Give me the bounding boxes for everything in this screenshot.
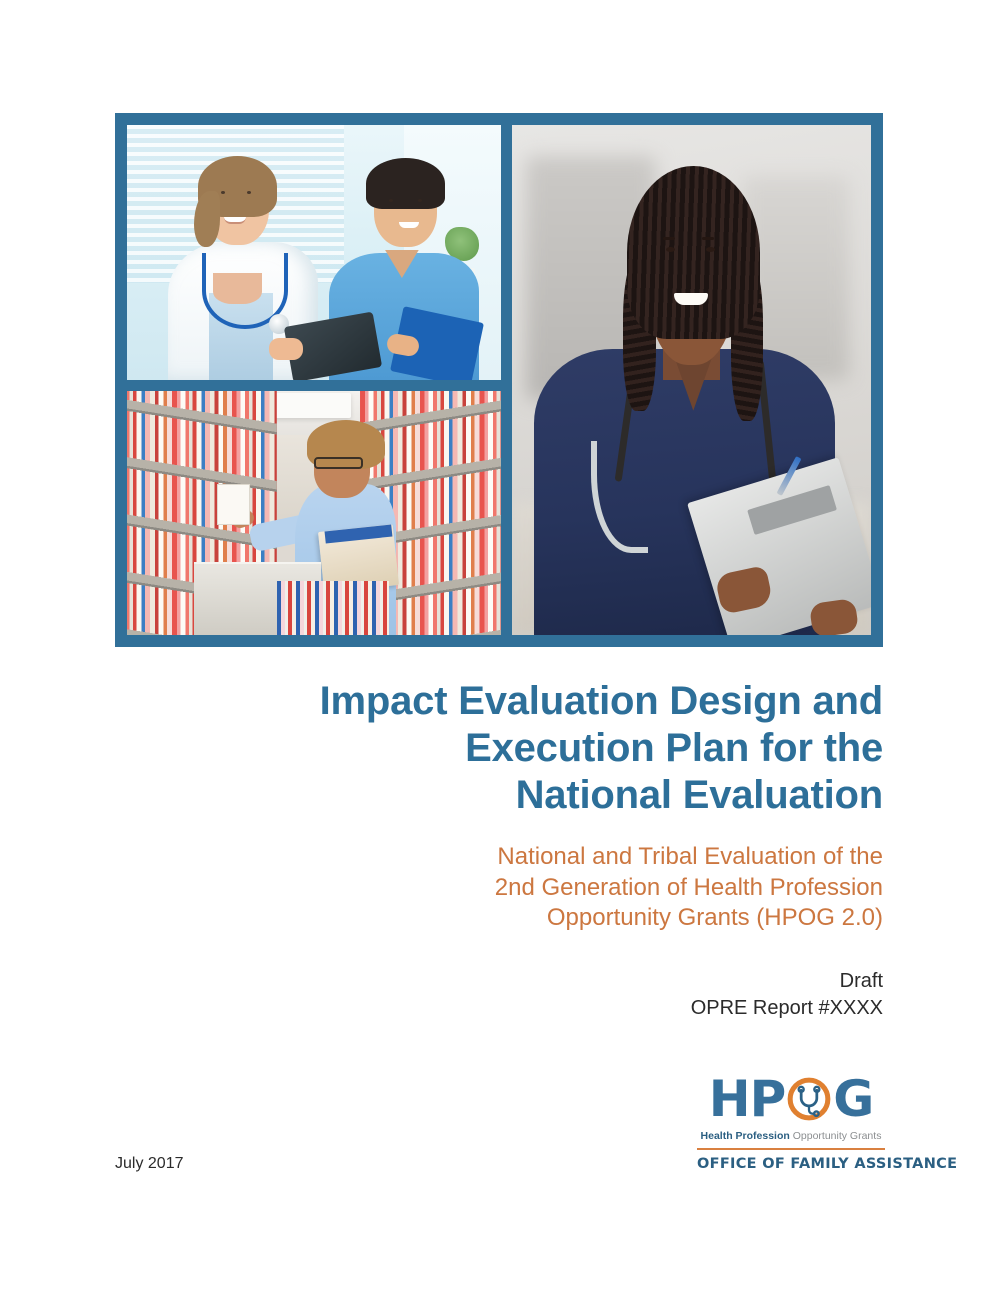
photo-nurse-clipboard-art	[512, 125, 871, 635]
page-subtitle-line-2: 2nd Generation of Health Profession	[115, 873, 883, 904]
collage-left-column	[127, 125, 501, 635]
page-title: Impact Evaluation Design and Execution P…	[115, 678, 883, 820]
page-subtitle-line-3: Opportunity Grants (HPOG 2.0)	[115, 903, 883, 934]
stethoscope-in-circle-icon	[786, 1076, 832, 1122]
page-subtitle-line-1: National and Tribal Evaluation of the	[115, 842, 883, 873]
office-of-family-assistance-label: OFFICE OF FAMILY ASSISTANCE	[697, 1156, 885, 1172]
logo-divider-rule	[697, 1148, 885, 1150]
photo-medical-records	[127, 391, 501, 635]
hpog-letters-g: G	[833, 1074, 873, 1124]
title-block: Impact Evaluation Design and Execution P…	[115, 678, 883, 1022]
photo-collage	[115, 113, 883, 647]
photo-healthcare-team	[127, 125, 501, 380]
page-subtitle: National and Tribal Evaluation of the 2n…	[115, 842, 883, 935]
report-meta: Draft OPRE Report #XXXX	[115, 968, 883, 1021]
draft-status-label: Draft	[115, 968, 883, 995]
report-number-label: OPRE Report #XXXX	[115, 995, 883, 1022]
hpog-wordmark: HP G	[697, 1073, 885, 1125]
photo-nurse-clipboard	[512, 125, 871, 635]
hpog-tagline-light: Opportunity Grants	[793, 1130, 882, 1142]
hpog-tagline: Health Profession Opportunity Grants	[697, 1130, 885, 1142]
photo-healthcare-team-art	[127, 125, 501, 380]
hpog-tagline-bold: Health Profession	[701, 1130, 790, 1142]
publication-date: July 2017	[115, 1155, 184, 1173]
page-title-line-3: National Evaluation	[115, 772, 883, 819]
page-title-line-1: Impact Evaluation Design and	[115, 678, 883, 725]
page-title-line-2: Execution Plan for the	[115, 725, 883, 772]
eyeglasses-icon	[314, 457, 363, 469]
collage-right-column	[512, 125, 871, 635]
report-cover-page: Impact Evaluation Design and Execution P…	[0, 0, 997, 1290]
hpog-letters-hp: HP	[709, 1074, 786, 1124]
hpog-logo: HP G Health Profession Opportunity Grant…	[697, 1073, 885, 1172]
photo-medical-records-art	[127, 391, 501, 635]
